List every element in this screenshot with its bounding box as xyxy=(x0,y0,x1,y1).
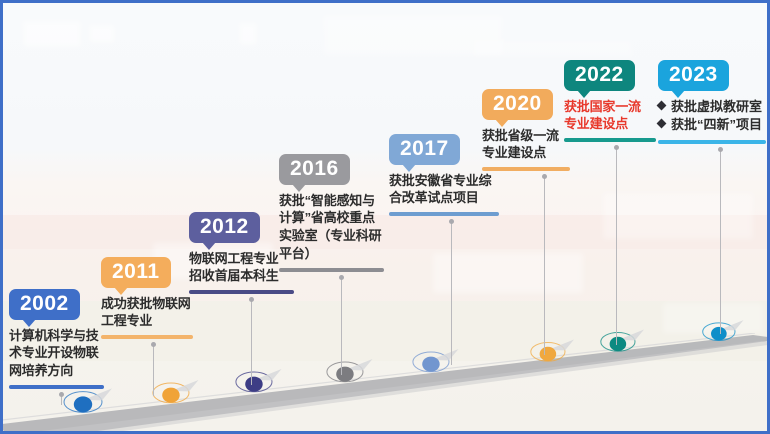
year-badge-2016[interactable]: 2016 xyxy=(279,154,350,185)
connector-pole xyxy=(251,300,252,385)
connector-pole xyxy=(341,278,342,375)
road-marker[interactable] xyxy=(701,313,752,350)
background-window-g xyxy=(433,253,583,293)
background-highlight-a xyxy=(23,21,81,47)
underline-bar xyxy=(389,212,499,216)
underline-bar xyxy=(279,268,384,272)
timeline-item-2023[interactable]: 2023获批虚拟教研室获批“四新”项目 xyxy=(658,60,766,144)
timeline-item-2011[interactable]: 2011成功获批物联网 工程专业 xyxy=(101,257,193,339)
year-label: 2012 xyxy=(200,215,249,238)
pole-knob xyxy=(59,392,64,397)
underline-bar xyxy=(482,167,570,171)
pole-knob xyxy=(614,145,619,150)
year-badge-2002[interactable]: 2002 xyxy=(9,289,80,320)
road-marker[interactable] xyxy=(325,351,382,393)
badge-tail xyxy=(292,184,306,192)
year-badge-2017[interactable]: 2017 xyxy=(389,134,460,165)
year-badge-2023[interactable]: 2023 xyxy=(658,60,729,91)
badge-tail xyxy=(114,287,128,295)
achievement-list: 获批虚拟教研室获批“四新”项目 xyxy=(658,98,766,136)
timeline-item-2020[interactable]: 2020获批省级一流 专业建设点 xyxy=(482,89,570,171)
underline-bar xyxy=(9,385,104,389)
list-item-label: 获批虚拟教研室 xyxy=(671,98,762,117)
pole-knob xyxy=(151,342,156,347)
road-marker[interactable] xyxy=(529,332,583,372)
connector-pole xyxy=(616,148,617,345)
year-label: 2016 xyxy=(290,157,339,180)
background-highlight-e xyxy=(473,39,633,57)
underline-bar xyxy=(658,140,766,144)
background-window-h xyxy=(603,193,753,239)
achievement-description: 获批省级一流 专业建设点 xyxy=(482,127,570,163)
road-marker[interactable] xyxy=(151,372,208,414)
connector-pole xyxy=(451,222,452,365)
diamond-bullet-icon xyxy=(657,119,667,129)
road-marker[interactable] xyxy=(411,341,468,383)
diamond-bullet-icon xyxy=(657,100,667,110)
badge-tail xyxy=(495,119,509,127)
timeline-item-2002[interactable]: 2002计算机科学与技 术专业开设物联 网培养方向 xyxy=(9,289,104,389)
underline-bar xyxy=(101,335,193,339)
achievement-description: 获批国家一流 专业建设点 xyxy=(564,98,656,134)
timeline-item-2022[interactable]: 2022获批国家一流 专业建设点 xyxy=(564,60,656,142)
achievement-description: 获批安徽省专业综 合改革试点项目 xyxy=(389,172,499,208)
year-label: 2022 xyxy=(575,63,624,86)
badge-tail xyxy=(671,90,685,98)
background-highlight-b xyxy=(89,25,115,43)
year-badge-2020[interactable]: 2020 xyxy=(482,89,553,120)
underline-bar xyxy=(189,290,294,294)
pole-knob xyxy=(339,275,344,280)
connector-pole xyxy=(720,150,721,334)
badge-tail xyxy=(402,164,416,172)
road-marker[interactable] xyxy=(599,322,653,362)
badge-tail xyxy=(202,242,216,250)
underline-bar xyxy=(564,138,656,142)
connector-pole xyxy=(61,395,62,405)
achievement-description: 成功获批物联网 工程专业 xyxy=(101,295,193,331)
pole-knob xyxy=(718,147,723,152)
year-label: 2023 xyxy=(669,63,718,86)
year-label: 2017 xyxy=(400,137,449,160)
connector-pole xyxy=(153,345,154,396)
badge-tail xyxy=(577,90,591,98)
infographic-canvas: 2002计算机科学与技 术专业开设物联 网培养方向2011成功获批物联网 工程专… xyxy=(0,0,770,434)
background-highlight-c xyxy=(239,23,257,45)
pole-knob xyxy=(249,297,254,302)
year-label: 2002 xyxy=(20,292,69,315)
pole-knob xyxy=(542,174,547,179)
list-item: 获批“四新”项目 xyxy=(658,116,766,135)
achievement-description: 获批“智能感知与 计算”省高校重点 实验室（专业科研 平台） xyxy=(279,192,384,264)
connector-pole xyxy=(544,177,545,355)
pole-knob xyxy=(449,219,454,224)
badge-tail xyxy=(22,319,36,327)
year-label: 2011 xyxy=(112,260,160,283)
list-item-label: 获批“四新”项目 xyxy=(671,116,762,135)
year-label: 2020 xyxy=(493,92,542,115)
list-item: 获批虚拟教研室 xyxy=(658,98,766,117)
year-badge-2011[interactable]: 2011 xyxy=(101,257,171,288)
year-badge-2022[interactable]: 2022 xyxy=(564,60,635,91)
road-marker[interactable] xyxy=(234,361,291,403)
achievement-description: 计算机科学与技 术专业开设物联 网培养方向 xyxy=(9,327,104,381)
timeline-item-2016[interactable]: 2016获批“智能感知与 计算”省高校重点 实验室（专业科研 平台） xyxy=(279,154,384,272)
year-badge-2012[interactable]: 2012 xyxy=(189,212,260,243)
